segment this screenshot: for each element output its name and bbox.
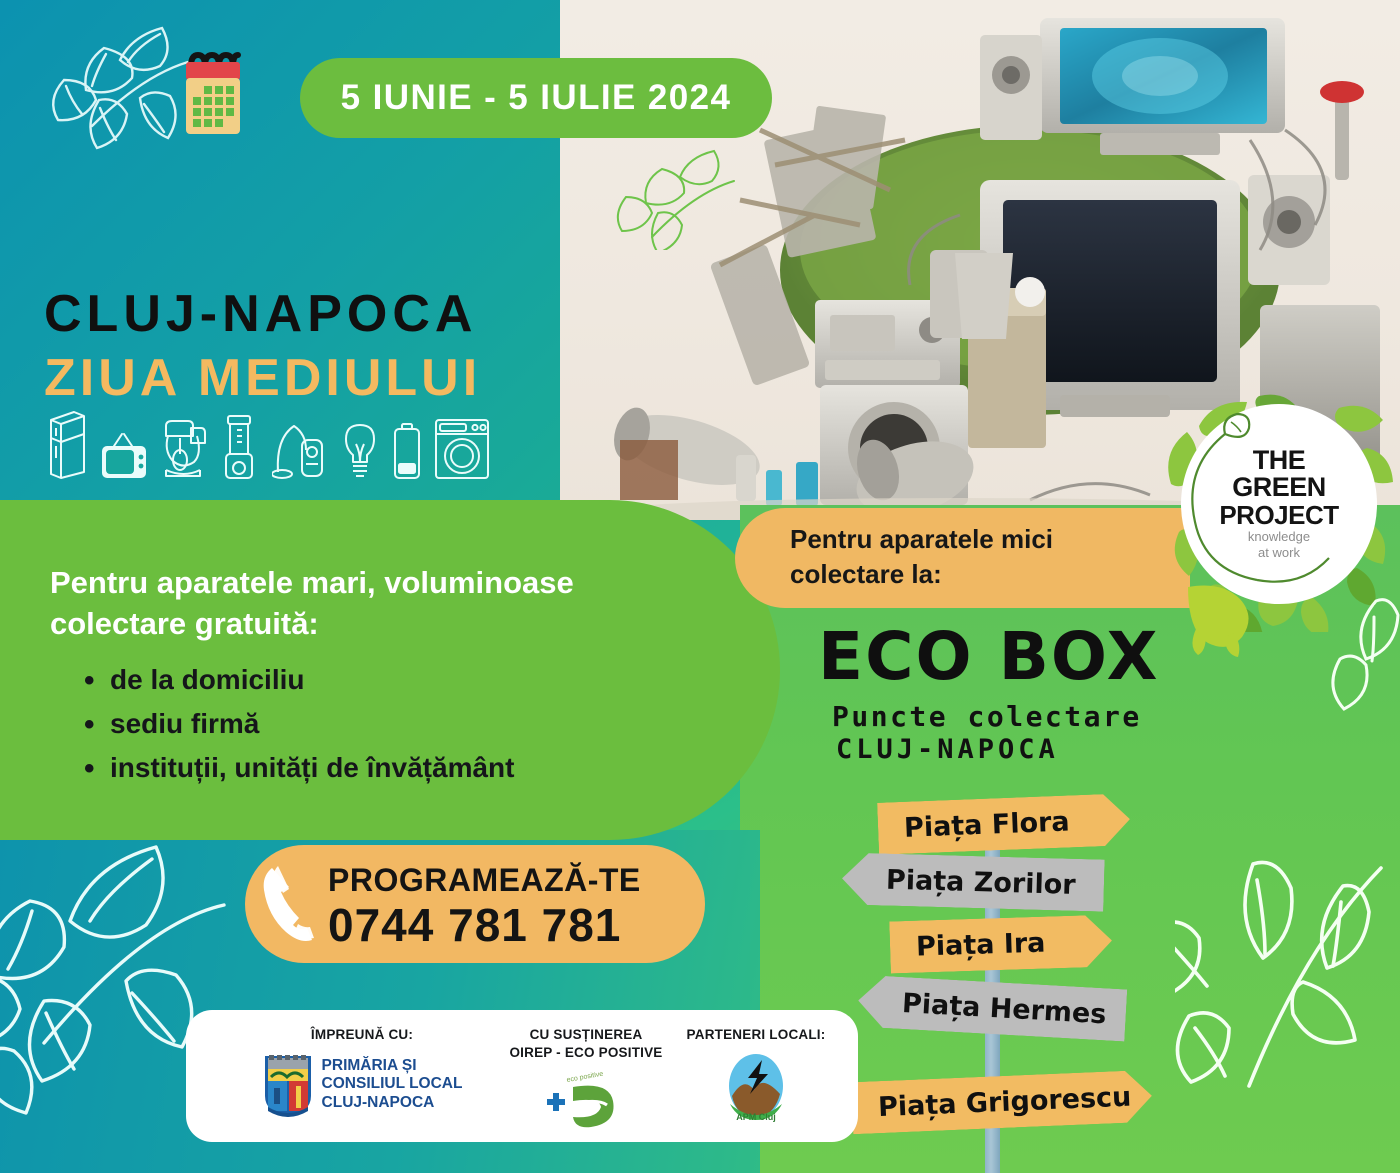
partners-footer: ÎMPREUNĂ CU: — [186, 1010, 858, 1142]
left-panel-heading: Pentru aparatele mari, voluminoase colec… — [50, 562, 710, 644]
date-badge: 5 IUNIE - 5 IULIE 2024 — [300, 58, 772, 138]
ecobox-title: ECO BOX — [818, 618, 1160, 695]
signpost-label: Piața Zorilor — [886, 864, 1076, 900]
svg-text:eco positive: eco positive — [566, 1071, 604, 1084]
tv-icon — [100, 432, 148, 480]
signpost-label: Piața Grigorescu — [877, 1081, 1131, 1123]
date-badge-label: 5 IUNIE - 5 IULIE 2024 — [341, 78, 732, 118]
footer-column-together-with: ÎMPREUNĂ CU: — [212, 1026, 512, 1118]
blender-icon — [220, 414, 260, 480]
footer-title-support-line2: OIREP - ECO POSITIVE — [486, 1044, 686, 1062]
small-appliances-banner-text: Pentru aparatele mici colectare la: — [790, 522, 1170, 592]
signpost-label: Piața Ira — [916, 927, 1046, 962]
footer-body-together: PRIMĂRIA ȘI CONSILIUL LOCAL CLUJ-NAPOCA — [212, 1052, 512, 1118]
list-item: sediu firmă — [78, 702, 698, 746]
footer-title-together: ÎMPREUNĂ CU: — [212, 1026, 512, 1044]
left-heading-line2: colectare gratuită: — [50, 603, 710, 644]
list-item: instituții, unități de învățământ — [78, 746, 698, 790]
plug-icon — [1180, 585, 1265, 657]
poster-canvas: 5 IUNIE - 5 IULIE 2024 CLUJ-NAPOCA ZIUA … — [0, 0, 1400, 1173]
lightbulb-icon — [340, 422, 380, 480]
footer-body-partners: APM Cluj — [666, 1052, 846, 1124]
left-heading-line1: Pentru aparatele mari, voluminoase — [50, 562, 710, 603]
footer-text-line1: PRIMĂRIA ȘI — [322, 1057, 463, 1075]
page-title: CLUJ-NAPOCA — [44, 288, 477, 340]
washing-machine-icon — [434, 418, 490, 480]
mixer-icon — [160, 418, 208, 480]
ecobox-subtitle: Puncte colectare — [832, 700, 1142, 733]
signpost-piata-ira[interactable]: Piața Ira — [889, 915, 1113, 974]
banner-line1: Pentru aparatele mici — [790, 522, 1170, 557]
footer-text-line2: CONSILIUL LOCAL — [322, 1075, 463, 1093]
apm-cluj-logo-icon: APM Cluj — [724, 1052, 788, 1124]
collection-options-list: de la domiciliu sediu firmă instituții, … — [78, 658, 698, 791]
logo-ring-leaf-icon — [1181, 404, 1377, 604]
eco-positive-logo-icon: eco positive — [543, 1069, 629, 1131]
cta-label: PROGRAMEAZĂ-TE — [328, 862, 641, 899]
phone-icon — [258, 862, 320, 946]
footer-body-support: eco positive — [486, 1069, 686, 1131]
calendar-icon — [182, 50, 244, 138]
page-subtitle: ZIUA MEDIULUI — [44, 352, 481, 404]
footer-text-primaria: PRIMĂRIA ȘI CONSILIUL LOCAL CLUJ-NAPOCA — [322, 1057, 463, 1112]
vacuum-icon — [272, 420, 328, 480]
signpost-piata-flora[interactable]: Piața Flora — [877, 793, 1131, 855]
signpost-label: Piața Hermes — [901, 988, 1107, 1030]
footer-column-supported-by: CU SUSȚINEREA OIREP - ECO POSITIVE eco p… — [486, 1026, 686, 1131]
cluj-napoca-coat-of-arms-icon — [262, 1052, 314, 1118]
battery-icon — [392, 422, 422, 480]
banner-line2: colectare la: — [790, 557, 1170, 592]
signpost-label: Piața Flora — [903, 806, 1070, 843]
footer-title-partners: PARTENERI LOCALI: — [666, 1026, 846, 1044]
list-item: de la domiciliu — [78, 658, 698, 702]
appliance-icon-row — [44, 408, 490, 480]
cta-phone-number[interactable]: 0744 781 781 — [328, 898, 621, 952]
footer-column-local-partners: PARTENERI LOCALI: APM Cluj — [666, 1026, 846, 1124]
fridge-icon — [44, 408, 88, 480]
footer-title-support-line1: CU SUSȚINEREA — [486, 1026, 686, 1044]
svg-text:APM Cluj: APM Cluj — [736, 1112, 776, 1122]
ecobox-city: CLUJ-NAPOCA — [836, 734, 1059, 765]
footer-text-line3: CLUJ-NAPOCA — [322, 1094, 463, 1112]
signpost-piata-zorilor[interactable]: Piața Zorilor — [841, 852, 1104, 911]
